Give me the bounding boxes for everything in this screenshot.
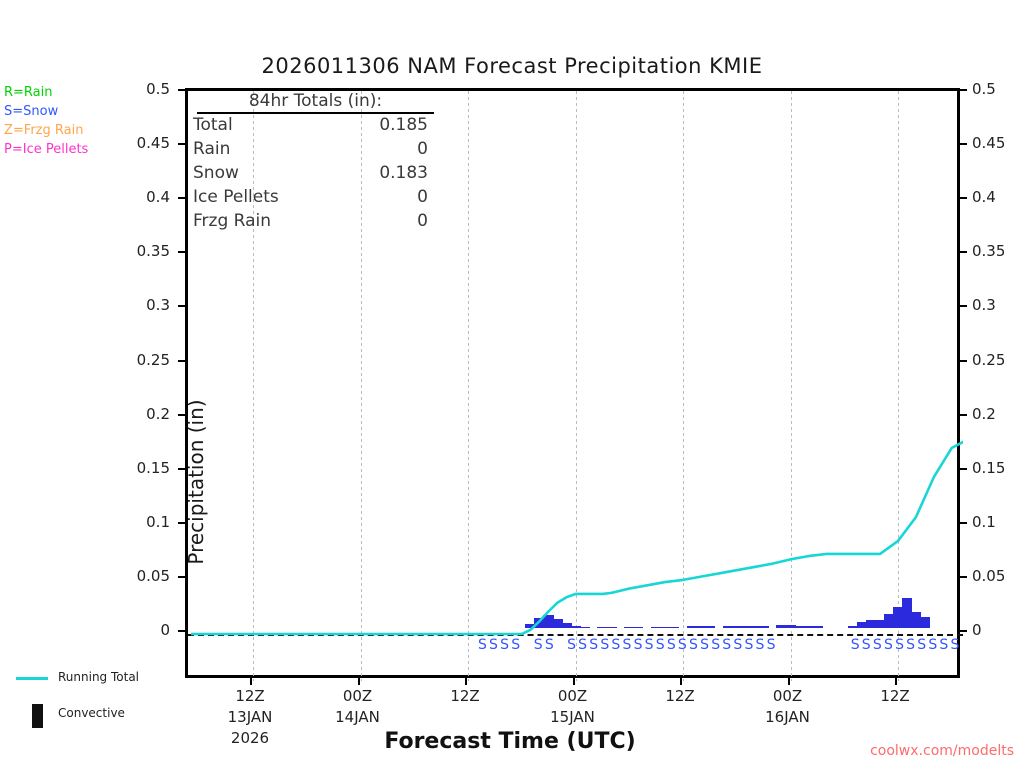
y-tick-label-left: 0.05 — [118, 567, 170, 585]
legend-label: Running Total — [58, 670, 139, 684]
y-tick-label-right: 0.15 — [972, 459, 1024, 477]
totals-row-total: Total 0.185 — [191, 115, 436, 139]
totals-label: Ice Pellets — [193, 187, 279, 207]
x-tick-label: 00Z16JAN — [733, 686, 843, 728]
x-tick-mark — [895, 678, 897, 685]
y-tick-mark-right — [960, 630, 967, 632]
y-tick-mark-right — [960, 360, 967, 362]
x-tick-label: 00Z15JAN — [518, 686, 628, 728]
y-tick-mark-left — [178, 197, 185, 199]
y-tick-label-right: 0.3 — [972, 296, 1024, 314]
y-tick-label-left: 0.45 — [118, 134, 170, 152]
y-tick-label-left: 0.3 — [118, 296, 170, 314]
y-tick-mark-left — [178, 468, 185, 470]
x-tick-label-line: 12Z — [195, 686, 305, 707]
x-tick-label-line: 14JAN — [303, 707, 413, 728]
x-tick-mark — [358, 678, 360, 685]
y-tick-label-left: 0.4 — [118, 188, 170, 206]
totals-value: 0 — [417, 211, 428, 231]
x-tick-mark — [465, 678, 467, 685]
x-tick-label: 00Z14JAN — [303, 686, 413, 728]
x-tick-label: 12Z — [840, 686, 950, 707]
y-tick-mark-right — [960, 468, 967, 470]
y-tick-mark-right — [960, 414, 967, 416]
totals-value: 0 — [417, 139, 428, 159]
totals-value: 0.183 — [379, 163, 428, 183]
x-tick-label-line: 13JAN — [195, 707, 305, 728]
x-tick-label: 12Z — [410, 686, 520, 707]
key-frzg-rain: Z=Frzg Rain — [4, 121, 88, 140]
legend-label: Convective — [58, 706, 125, 720]
y-tick-label-left: 0.15 — [118, 459, 170, 477]
x-tick-label-line: 00Z — [518, 686, 628, 707]
y-tick-mark-right — [960, 576, 967, 578]
precip-type-marker: SSSS — [478, 637, 522, 653]
y-tick-mark-left — [178, 414, 185, 416]
totals-label: Frzg Rain — [193, 211, 271, 231]
totals-value: 0 — [417, 187, 428, 207]
y-tick-label-left: 0.2 — [118, 405, 170, 423]
y-tick-mark-left — [178, 576, 185, 578]
totals-label: Rain — [193, 139, 230, 159]
y-tick-mark-right — [960, 522, 967, 524]
y-tick-mark-left — [178, 305, 185, 307]
x-tick-mark — [250, 678, 252, 685]
y-tick-label-right: 0.35 — [972, 242, 1024, 260]
totals-label: Total — [193, 115, 233, 135]
y-tick-label-left: 0.1 — [118, 513, 170, 531]
bar-swatch-icon — [32, 704, 43, 728]
y-tick-mark-left — [178, 89, 185, 91]
totals-box: 84hr Totals (in): Total 0.185 Rain 0 Sno… — [191, 91, 436, 235]
precip-type-marker: SSSSSSSSSS — [851, 637, 962, 653]
y-tick-mark-left — [178, 522, 185, 524]
key-ice-pellets: P=Ice Pellets — [4, 140, 88, 159]
y-tick-label-left: 0.35 — [118, 242, 170, 260]
y-tick-label-right: 0.4 — [972, 188, 1024, 206]
x-tick-label: 12Z — [625, 686, 735, 707]
y-tick-mark-right — [960, 143, 967, 145]
totals-row-frzg-rain: Frzg Rain 0 — [191, 211, 436, 235]
chart-canvas: 2026011306 NAM Forecast Precipitation KM… — [0, 0, 1024, 768]
site-credit: coolwx.com/modelts — [870, 743, 1014, 759]
totals-heading: 84hr Totals (in): — [197, 91, 434, 114]
x-tick-label-line: 12Z — [410, 686, 520, 707]
x-tick-label-line: 12Z — [625, 686, 735, 707]
running-total-path — [199, 434, 963, 634]
x-tick-mark — [788, 678, 790, 685]
y-tick-label-right: 0.2 — [972, 405, 1024, 423]
y-tick-mark-left — [178, 360, 185, 362]
x-tick-label-line: 00Z — [303, 686, 413, 707]
totals-row-ice-pellets: Ice Pellets 0 — [191, 187, 436, 211]
y-tick-mark-right — [960, 197, 967, 199]
x-tick-mark — [680, 678, 682, 685]
totals-row-snow: Snow 0.183 — [191, 163, 436, 187]
totals-row-rain: Rain 0 — [191, 139, 436, 163]
y-tick-label-left: 0 — [118, 621, 170, 639]
line-swatch-icon — [16, 677, 48, 680]
y-tick-mark-left — [178, 143, 185, 145]
y-tick-label-left: 0.25 — [118, 351, 170, 369]
y-tick-mark-right — [960, 305, 967, 307]
y-tick-mark-right — [960, 251, 967, 253]
x-tick-label-line: 00Z — [733, 686, 843, 707]
y-axis-title-wrap: Precipitation (in) — [82, 230, 122, 490]
y-tick-label-right: 0.45 — [972, 134, 1024, 152]
y-tick-label-right: 0.05 — [972, 567, 1024, 585]
x-axis-title: Forecast Time (UTC) — [230, 729, 790, 754]
y-tick-label-right: 0.1 — [972, 513, 1024, 531]
y-tick-label-right: 0 — [972, 621, 1024, 639]
page-title: 2026011306 NAM Forecast Precipitation KM… — [0, 54, 1024, 78]
y-tick-mark-right — [960, 89, 967, 91]
y-tick-label-right: 0.25 — [972, 351, 1024, 369]
key-rain: R=Rain — [4, 83, 88, 102]
key-snow: S=Snow — [4, 102, 88, 121]
x-tick-label-line: 16JAN — [733, 707, 843, 728]
precip-type-marker: SSSSSSSSSSSSSSSSSSS — [567, 637, 778, 653]
totals-value: 0.185 — [379, 115, 428, 135]
x-tick-label-line: 15JAN — [518, 707, 628, 728]
precip-type-marker: SS — [534, 637, 556, 653]
totals-label: Snow — [193, 163, 239, 183]
y-tick-label-left: 0.5 — [118, 80, 170, 98]
y-tick-label-right: 0.5 — [972, 80, 1024, 98]
y-tick-mark-left — [178, 630, 185, 632]
x-tick-mark — [573, 678, 575, 685]
y-tick-mark-left — [178, 251, 185, 253]
x-tick-label-line: 12Z — [840, 686, 950, 707]
precip-type-key: R=Rain S=Snow Z=Frzg Rain P=Ice Pellets — [4, 83, 88, 159]
